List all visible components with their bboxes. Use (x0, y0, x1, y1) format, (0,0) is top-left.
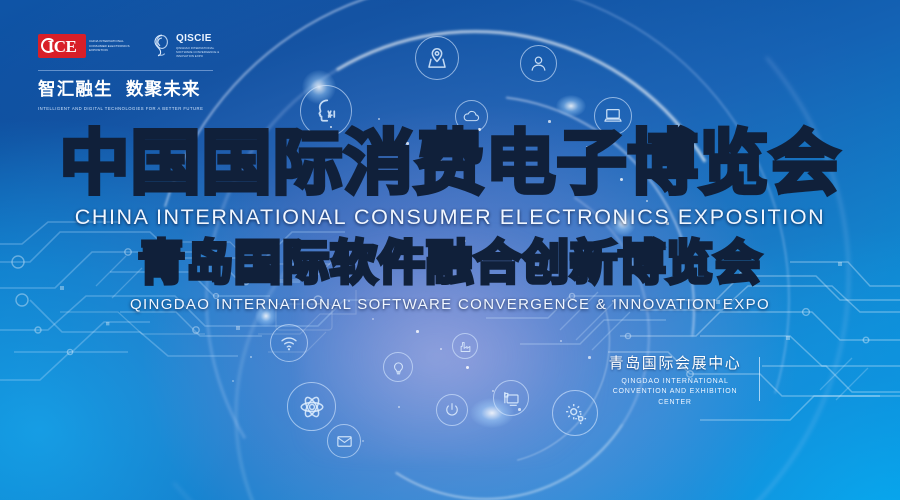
user-avatar-icon (520, 45, 557, 82)
venue-block: 青岛国际会展中心 QINGDAO INTERNATIONAL CONVENTIO… (600, 355, 760, 409)
qiscie-logo-text-block: QISCIE QINGDAO INTERNATIONAL SOFTWARE CO… (176, 34, 222, 58)
presentation-icon (493, 380, 529, 416)
qiscie-logo: QISCIE QINGDAO INTERNATIONAL SOFTWARE CO… (151, 33, 222, 59)
secondary-title-chinese: 青岛国际软件融合创新博览会 (138, 240, 762, 287)
logo-rule-divider (38, 70, 213, 71)
qiscie-logo-subtitle: QINGDAO INTERNATIONAL SOFTWARE CONVERGEN… (176, 46, 222, 58)
tagline-english: INTELLIGENT AND DIGITAL TECHNOLOGIES FOR… (38, 106, 213, 111)
cice-logo: ICE CHINA INTERNATIONAL CONSUMER ELECTRO… (38, 34, 133, 58)
mail-envelope-icon (327, 424, 361, 458)
tagline-chinese: 智汇融生数聚未来 (38, 76, 213, 101)
venue-name-english-line2: CONVENTION AND EXHIBITION CENTER (600, 387, 750, 409)
gear-icon (552, 390, 598, 436)
wifi-signal-icon (270, 324, 308, 362)
location-pin-icon (415, 36, 459, 80)
factory-icon (452, 333, 478, 359)
power-button-icon (436, 394, 468, 426)
tagline-chinese-left: 智汇融生 (38, 80, 113, 100)
organizer-logo-block: ICE CHINA INTERNATIONAL CONSUMER ELECTRO… (38, 30, 213, 111)
light-flare-decoration (556, 95, 586, 117)
atom-icon (287, 382, 336, 431)
qiscie-logo-text: QISCIE (176, 34, 222, 44)
cice-logo-mark: ICE (38, 34, 86, 58)
venue-name-chinese: 青岛国际会展中心 (600, 355, 750, 372)
secondary-title-chinese-wrap: 青岛国际软件融合创新博览会 青岛国际软件融合创新博览会 (138, 240, 762, 287)
primary-title-chinese-wrap: 中国国际消费电子博览会 中国国际消费电子博览会 (60, 128, 841, 198)
exposition-poster: ICE CHINA INTERNATIONAL CONSUMER ELECTRO… (0, 0, 900, 500)
venue-name-english: QINGDAO INTERNATIONAL CONVENTION AND EXH… (600, 377, 750, 410)
cice-logo-subtitle: CHINA INTERNATIONAL CONSUMER ELECTRONICS… (89, 39, 133, 52)
title-stack: 中国国际消费电子博览会 中国国际消费电子博览会 CHINA INTERNATIO… (0, 128, 900, 313)
primary-title-english: CHINA INTERNATIONAL CONSUMER ELECTRONICS… (0, 205, 900, 230)
secondary-title-english: QINGDAO INTERNATIONAL SOFTWARE CONVERGEN… (0, 296, 900, 313)
tagline-chinese-right: 数聚未来 (126, 80, 201, 100)
lightbulb-icon (383, 352, 413, 382)
venue-name-english-line1: QINGDAO INTERNATIONAL (600, 377, 750, 388)
primary-title-chinese: 中国国际消费电子博览会 (60, 128, 841, 198)
qiscie-logo-mark (151, 33, 173, 59)
cice-c-ring (41, 38, 56, 53)
logo-row: ICE CHINA INTERNATIONAL CONSUMER ELECTRO… (38, 30, 213, 62)
